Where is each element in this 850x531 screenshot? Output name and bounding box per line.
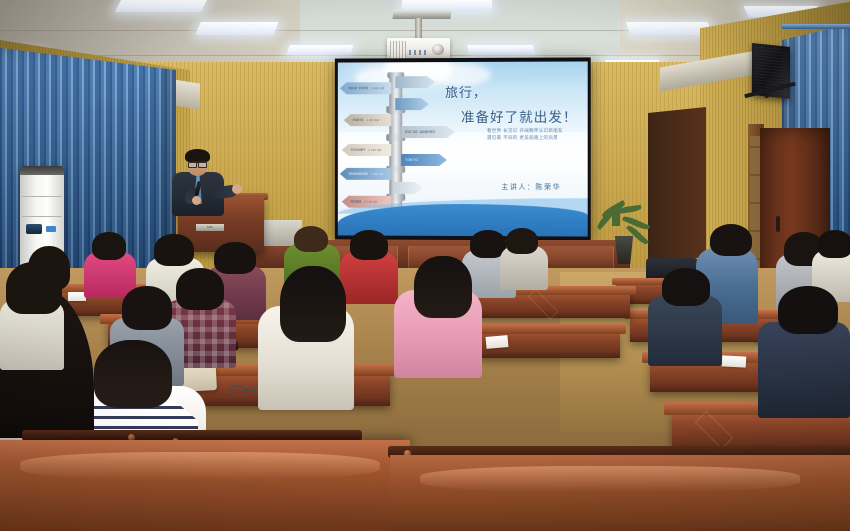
slide-presenter-label: 主讲人：陈荣华 [477, 182, 586, 192]
air-conditioner-led [46, 226, 56, 232]
projector-arm [415, 18, 422, 40]
signpost-arrow: SHANGHAI 1 286 KM [340, 168, 391, 180]
audience-person-hair [350, 230, 388, 260]
slide-subtitle-line1: 看世界 长见识 开阔胸怀认识新朋友 [487, 128, 584, 135]
signpost-arrow: SYDNEY 9 145 KM [342, 144, 391, 156]
audience-person-hair [710, 224, 752, 256]
audience-person-hair [92, 232, 126, 260]
projector-buttons [409, 50, 429, 55]
sign-label: RIO DE JANEIRO [405, 130, 435, 134]
signpost-arrow: NEW YORK 5 842 KM [340, 82, 391, 94]
sign-distance: 9 145 KM [369, 149, 382, 152]
ceiling-light [467, 45, 535, 54]
curtain-rod [782, 24, 850, 29]
audience-person-hair [154, 234, 194, 266]
lecture-hall-photo: NEW YORK 5 842 KM PARIS 1 203 KM SYDNEY … [0, 0, 850, 531]
podium-nameplate: MIC [196, 224, 224, 231]
sign-distance: 5 842 KM [371, 87, 384, 90]
desk-sheen [420, 466, 800, 492]
sign-label: NEW YORK [349, 86, 369, 90]
slide-title-line1: 旅行， [445, 86, 487, 101]
audience-person-hair [818, 230, 850, 258]
signpost-arrow: RIO DE JANEIRO [401, 126, 455, 138]
sign-distance: 1 203 KM [366, 119, 379, 122]
audience-person-torso [758, 322, 850, 418]
audience-person-hair [506, 228, 538, 254]
ceiling-light [115, 0, 207, 12]
signpost-arrow [395, 76, 435, 88]
audience-person-torso [648, 296, 722, 366]
audience-person-hair [662, 268, 710, 306]
signpost-arrow: PARIS 1 203 KM [344, 114, 392, 126]
projection-screen-frame: NEW YORK 5 842 KM PARIS 1 203 KM SYDNEY … [335, 57, 591, 240]
audience-person-hair [176, 268, 224, 310]
slide-subtitle: 看世界 长见识 开阔胸怀认识新朋友 遇见最 不同的 更美丽路上的风景 [487, 128, 584, 142]
audience-person-hair [94, 340, 172, 408]
audience-person-hair [280, 266, 346, 342]
presenter-left-hand [192, 196, 201, 205]
slide-subtitle-line2: 遇见最 不同的 更美丽路上的风景 [487, 135, 584, 142]
plant-leaf [612, 204, 620, 226]
ceiling-light [286, 45, 353, 55]
air-conditioner-vent [20, 166, 64, 175]
presenter-right-hand [232, 184, 242, 194]
ceiling-light [195, 22, 278, 35]
audience-person-hair [214, 242, 256, 274]
sign-label: SYDNEY [351, 148, 366, 152]
audience-person-hair [778, 286, 838, 334]
signpost-arrow [393, 182, 423, 194]
audience-person-hair [414, 256, 472, 318]
audience-person-hair [28, 246, 70, 290]
sign-distance: 8 710 KM [365, 200, 378, 203]
audience-person-hair [122, 286, 172, 330]
door-handle[interactable] [776, 216, 780, 232]
audience-person-hair [294, 226, 328, 252]
sign-label: SHANGHAI [349, 172, 368, 176]
signpost-arrow: TOKYO [401, 154, 447, 166]
sign-label: ROMA [351, 200, 362, 204]
right-wall-recess [648, 107, 706, 263]
projector-vent [390, 41, 406, 59]
sign-distance: 1 286 KM [371, 172, 384, 175]
air-conditioner-display [26, 224, 42, 234]
projection-screen: NEW YORK 5 842 KM PARIS 1 203 KM SYDNEY … [338, 61, 588, 236]
slide-title-line2: 准备好了就出发！ [461, 106, 578, 126]
slide-title: 旅行， 准备好了就出发！ [445, 82, 578, 126]
paper-sheet [722, 355, 747, 367]
projector-lens [432, 44, 444, 55]
paper-sheet [486, 335, 509, 349]
presenter-glasses [188, 161, 207, 166]
projector-mount [393, 10, 452, 19]
sign-label: PARIS [353, 118, 364, 122]
sign-label: TOKYO [405, 158, 418, 162]
desk-sheen [20, 452, 380, 480]
